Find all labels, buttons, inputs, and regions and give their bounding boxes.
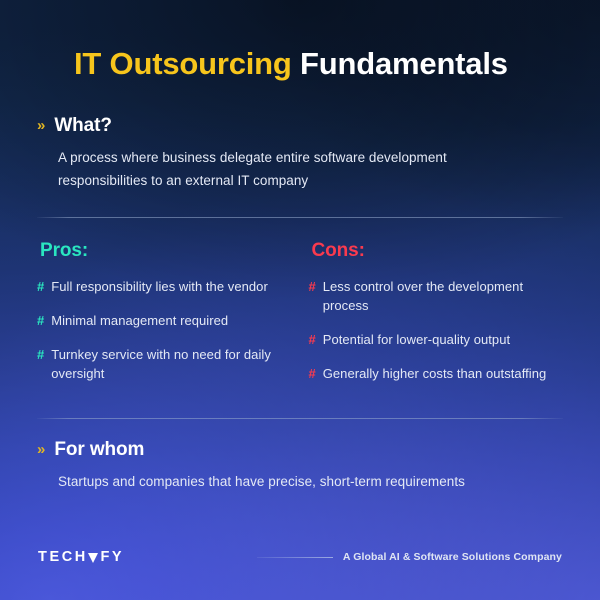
- hash-marker-icon: #: [309, 365, 316, 384]
- pros-item-text: Minimal management required: [51, 312, 228, 331]
- section-what-body: A process where business delegate entire…: [58, 146, 528, 192]
- section-for-whom-header: » For whom: [37, 439, 144, 461]
- pros-title: Pros:: [40, 240, 294, 262]
- logo-text-right: FY: [100, 549, 124, 565]
- page-title: IT Outsourcing Fundamentals: [74, 47, 508, 81]
- tagline-rule: [257, 557, 333, 558]
- cons-item-text: Potential for lower-quality output: [323, 331, 510, 350]
- page-title-accent: IT Outsourcing: [74, 46, 292, 81]
- hash-marker-icon: #: [309, 331, 316, 350]
- pros-cons-columns: Pros: # Full responsibility lies with th…: [37, 240, 565, 383]
- double-chevron-right-icon: »: [37, 442, 45, 457]
- logo-text-left: TECH: [38, 549, 88, 565]
- list-item: # Turnkey service with no need for daily…: [37, 346, 294, 384]
- hash-marker-icon: #: [309, 278, 316, 297]
- section-for-whom-title: For whom: [54, 439, 144, 461]
- hash-marker-icon: #: [37, 312, 44, 331]
- page-title-plain: Fundamentals: [292, 46, 508, 81]
- list-item: # Potential for lower-quality output: [309, 331, 566, 350]
- hash-marker-icon: #: [37, 278, 44, 297]
- pros-item-text: Full responsibility lies with the vendor: [51, 278, 268, 297]
- list-item: # Minimal management required: [37, 312, 294, 331]
- cons-column: Cons: # Less control over the developmen…: [306, 240, 566, 383]
- section-what-header: » What?: [37, 115, 112, 137]
- hash-marker-icon: #: [37, 346, 44, 365]
- techvfy-logo: TECHFY: [38, 549, 124, 565]
- pros-column: Pros: # Full responsibility lies with th…: [37, 240, 306, 383]
- cons-item-text: Generally higher costs than outstaffing: [323, 365, 547, 384]
- slide-canvas: IT Outsourcing Fundamentals » What? A pr…: [0, 0, 600, 600]
- list-item: # Less control over the development proc…: [309, 278, 566, 316]
- divider-top: [37, 217, 563, 218]
- list-item: # Full responsibility lies with the vend…: [37, 278, 294, 297]
- cons-item-text: Less control over the development proces…: [323, 278, 565, 316]
- section-what-title: What?: [54, 115, 112, 137]
- pros-item-text: Turnkey service with no need for daily o…: [51, 346, 293, 384]
- double-chevron-right-icon: »: [37, 118, 45, 133]
- footer: TECHFY A Global AI & Software Solutions …: [0, 546, 600, 576]
- section-for-whom-body: Startups and companies that have precise…: [58, 470, 465, 493]
- footer-tagline-group: A Global AI & Software Solutions Company: [257, 551, 562, 563]
- footer-tagline: A Global AI & Software Solutions Company: [343, 551, 562, 563]
- list-item: # Generally higher costs than outstaffin…: [309, 365, 566, 384]
- divider-bottom: [37, 418, 563, 419]
- inverted-triangle-a-icon: [88, 553, 98, 563]
- cons-title: Cons:: [312, 240, 566, 262]
